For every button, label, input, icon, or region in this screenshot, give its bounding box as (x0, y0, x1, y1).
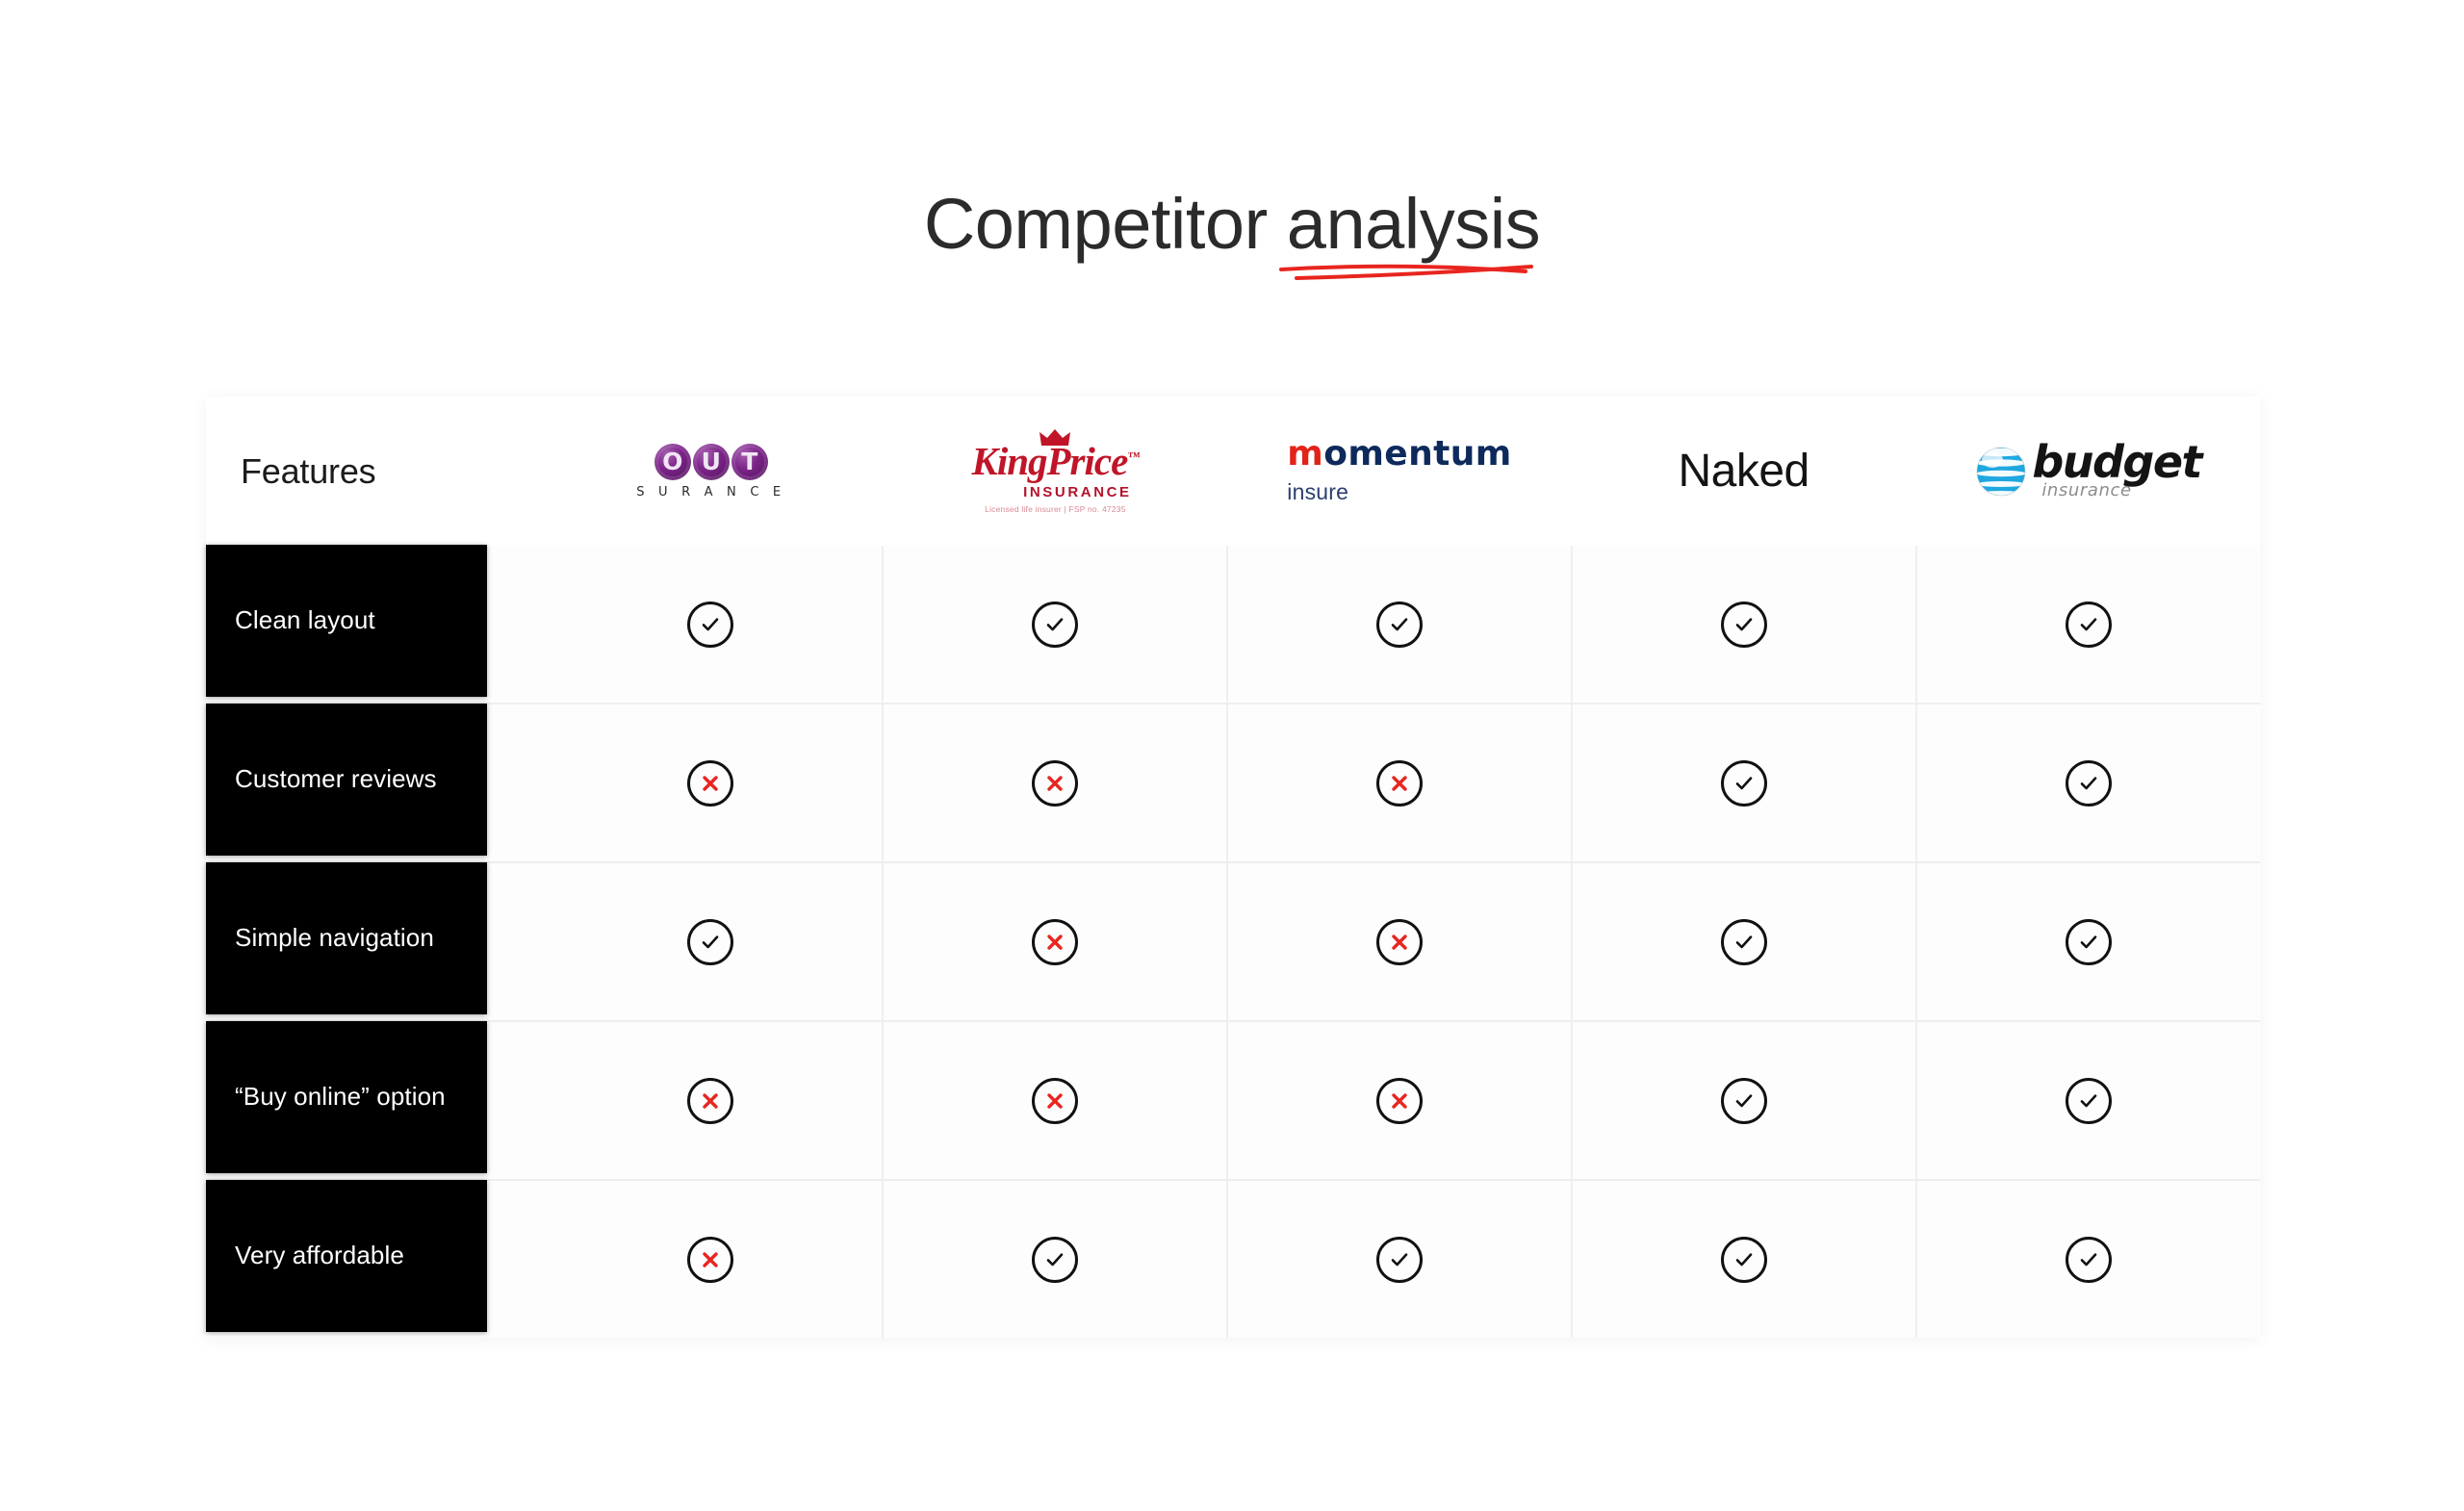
feature-label-cell: Simple navigation (206, 863, 539, 1020)
outsurance-logo-letter-t: T (731, 444, 768, 480)
cross-circle-icon (687, 1237, 733, 1283)
budget-logo-wordmark: budget (2032, 442, 2201, 482)
outsurance-logo-letter-o: O (654, 444, 691, 480)
outsurance-logo-letter-u: U (693, 444, 730, 480)
page-title-prefix: Competitor (924, 184, 1287, 264)
cross-circle-icon (1032, 919, 1078, 965)
cell-kingprice (882, 704, 1226, 861)
check-circle-icon (2066, 1237, 2112, 1283)
competitor-analysis-table: Features O U T S U R A N C E KingPrice™ … (206, 397, 2260, 1338)
kingprice-logo-trademark: ™ (1127, 448, 1139, 463)
column-header-outsurance: O U T S U R A N C E (539, 397, 884, 546)
cell-naked (1571, 546, 1915, 703)
cell-outsurance (539, 863, 882, 1020)
budget-logo-subtext: insurance (2041, 480, 2131, 500)
table-row: Clean layout (206, 546, 2260, 703)
feature-label-cell: Customer reviews (206, 704, 539, 861)
table-body: Clean layoutCustomer reviewsSimple navig… (206, 546, 2260, 1338)
feature-label-chip: “Buy online” option (206, 1021, 487, 1173)
kingprice-logo-wordmark: KingPrice™ (971, 442, 1139, 481)
naked-logo: Naked (1678, 448, 1809, 495)
cell-outsurance (539, 546, 882, 703)
feature-label: Customer reviews (235, 764, 437, 794)
cell-momentum (1226, 1022, 1571, 1179)
cross-circle-icon (1032, 1078, 1078, 1124)
cell-kingprice (882, 1181, 1226, 1338)
cell-kingprice (882, 546, 1226, 703)
cross-circle-icon (1376, 760, 1423, 807)
feature-label-chip: Clean layout (206, 545, 487, 697)
check-circle-icon (1721, 602, 1767, 648)
page-title-emphasis: analysis (1287, 184, 1540, 264)
cell-momentum (1226, 546, 1571, 703)
feature-label-cell: Very affordable (206, 1181, 539, 1338)
kingprice-logo-text: KingPrice (971, 439, 1127, 483)
features-header-cell: Features (206, 397, 539, 546)
cell-budget (1915, 1181, 2260, 1338)
cell-budget (1915, 546, 2260, 703)
cell-kingprice (882, 863, 1226, 1020)
cross-circle-icon (1376, 1078, 1423, 1124)
feature-label: Simple navigation (235, 923, 434, 953)
page-title: Competitor analysis (924, 189, 1540, 260)
feature-label: Clean layout (235, 605, 375, 635)
feature-label-chip: Very affordable (206, 1180, 487, 1332)
table-row: Simple navigation (206, 861, 2260, 1020)
feature-label: Very affordable (235, 1241, 404, 1270)
page-title-container: Competitor analysis (0, 189, 2464, 260)
cell-momentum (1226, 704, 1571, 861)
check-circle-icon (2066, 1078, 2112, 1124)
cross-circle-icon (687, 760, 733, 807)
cross-circle-icon (687, 1078, 733, 1124)
table-row: Customer reviews (206, 703, 2260, 861)
momentum-logo-subtext: insure (1287, 479, 1348, 505)
cell-naked (1571, 1181, 1915, 1338)
feature-label: “Buy online” option (235, 1082, 446, 1112)
column-header-budget: budget insurance (1915, 397, 2260, 546)
momentum-logo-wordmark: momentum (1287, 437, 1511, 472)
feature-label-chip: Simple navigation (206, 862, 487, 1014)
check-circle-icon (687, 602, 733, 648)
check-circle-icon (687, 919, 733, 965)
cell-naked (1571, 863, 1915, 1020)
check-circle-icon (2066, 919, 2112, 965)
cell-outsurance (539, 1022, 882, 1179)
cell-naked (1571, 1022, 1915, 1179)
cell-outsurance (539, 1181, 882, 1338)
check-circle-icon (1032, 602, 1078, 648)
page-title-emphasis-wrap: analysis (1287, 189, 1540, 260)
check-circle-icon (1376, 602, 1423, 648)
column-header-kingprice: KingPrice™ INSURANCE Licensed life insur… (884, 397, 1228, 546)
table-header-row: Features O U T S U R A N C E KingPrice™ … (206, 397, 2260, 546)
budget-logo-text: budget insurance (2032, 442, 2201, 500)
kingprice-logo-subtext: INSURANCE (1023, 484, 1132, 500)
check-circle-icon (1376, 1237, 1423, 1283)
feature-label-cell: Clean layout (206, 546, 539, 703)
outsurance-logo-circles: O U T (654, 444, 768, 480)
momentum-logo: momentum insure (1287, 437, 1511, 505)
kingprice-logo: KingPrice™ INSURANCE Licensed life insur… (971, 428, 1139, 514)
feature-label-chip: Customer reviews (206, 704, 487, 856)
features-header-label: Features (241, 451, 375, 492)
kingprice-logo-finetext: Licensed life insurer | FSP no. 47235 (985, 504, 1125, 514)
outsurance-logo: O U T S U R A N C E (636, 444, 785, 499)
budget-logo: budget insurance (1974, 442, 2201, 500)
cell-budget (1915, 1022, 2260, 1179)
cell-outsurance (539, 704, 882, 861)
feature-label-cell: “Buy online” option (206, 1022, 539, 1179)
cross-circle-icon (1032, 760, 1078, 807)
check-circle-icon (2066, 760, 2112, 807)
momentum-logo-rest: omentum (1323, 434, 1511, 474)
check-circle-icon (1721, 919, 1767, 965)
outsurance-logo-subtext: S U R A N C E (636, 485, 785, 499)
check-circle-icon (1721, 1078, 1767, 1124)
cell-naked (1571, 704, 1915, 861)
momentum-logo-first-letter: m (1287, 434, 1323, 474)
cell-momentum (1226, 1181, 1571, 1338)
naked-logo-wordmark: Naked (1678, 448, 1809, 495)
cross-circle-icon (1376, 919, 1423, 965)
column-header-momentum: momentum insure (1227, 397, 1572, 546)
check-circle-icon (1721, 760, 1767, 807)
globe-icon (1974, 445, 2028, 499)
cell-budget (1915, 863, 2260, 1020)
cell-kingprice (882, 1022, 1226, 1179)
table-row: “Buy online” option (206, 1020, 2260, 1179)
check-circle-icon (2066, 602, 2112, 648)
table-row: Very affordable (206, 1179, 2260, 1338)
cell-budget (1915, 704, 2260, 861)
column-header-naked: Naked (1572, 397, 1916, 546)
check-circle-icon (1721, 1237, 1767, 1283)
check-circle-icon (1032, 1237, 1078, 1283)
cell-momentum (1226, 863, 1571, 1020)
